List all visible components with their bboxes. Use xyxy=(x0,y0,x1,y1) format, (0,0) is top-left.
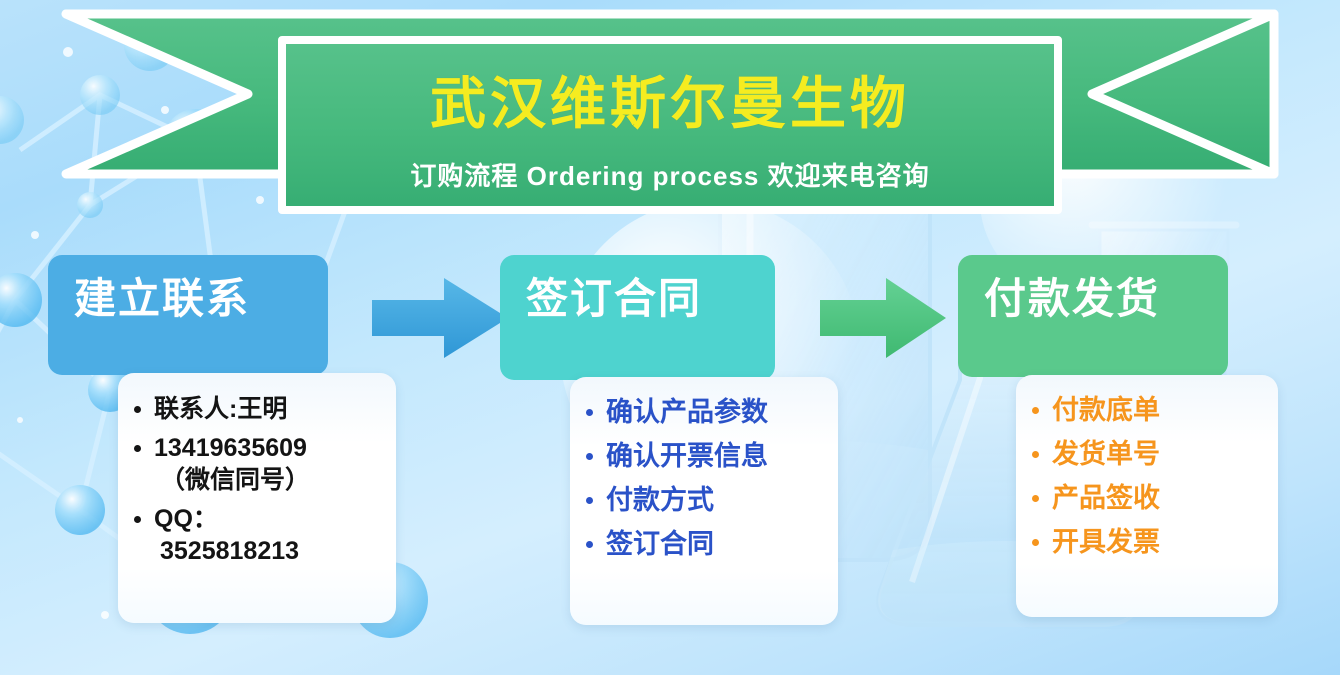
payment-item-1: 付款底单 xyxy=(1052,395,1160,425)
contact-qq-value: 3525818213 xyxy=(154,535,386,568)
step-payment-body: 付款底单 发货单号 产品签收 开具发票 xyxy=(1016,375,1278,617)
step-contact-title: 建立联系 xyxy=(74,277,250,321)
contact-person: 联系人:王明 xyxy=(154,395,287,423)
banner-subtitle: 订购流程 Ordering process 欢迎来电咨询 xyxy=(0,132,1340,193)
step-card-contract[interactable]: 签订合同 确认产品参数 确认开票信息 付款方式 签订合同 xyxy=(500,255,860,635)
contract-item-3: 付款方式 xyxy=(606,485,714,515)
payment-item-3: 产品签收 xyxy=(1052,483,1160,513)
payment-item-2: 发货单号 xyxy=(1052,439,1160,469)
step-contract-list: 确认产品参数 确认开票信息 付款方式 签订合同 xyxy=(578,395,830,562)
list-item: QQ： 3525818213 xyxy=(126,503,386,568)
step-contact-header: 建立联系 xyxy=(48,255,328,375)
list-item: 发货单号 xyxy=(1024,437,1270,472)
poster-root: 武汉维斯尔曼生物 订购流程 Ordering process 欢迎来电咨询 建立… xyxy=(0,0,1340,675)
step-payment-title: 付款发货 xyxy=(984,277,1160,321)
step-contact-body: 联系人:王明 13419635609 （微信同号） QQ： 3525818213 xyxy=(118,373,396,623)
step-contract-title: 签订合同 xyxy=(526,277,702,321)
step-payment-header: 付款发货 xyxy=(958,255,1228,377)
step-contract-body: 确认产品参数 确认开票信息 付款方式 签订合同 xyxy=(570,377,838,625)
list-item: 联系人:王明 xyxy=(126,393,386,426)
step-contract-header: 签订合同 xyxy=(500,255,775,380)
step-payment-list: 付款底单 发货单号 产品签收 开具发票 xyxy=(1024,393,1270,560)
header-ribbon: 武汉维斯尔曼生物 订购流程 Ordering process 欢迎来电咨询 xyxy=(0,4,1340,219)
payment-item-4: 开具发票 xyxy=(1052,527,1160,557)
list-item: 付款底单 xyxy=(1024,393,1270,428)
step-card-contact[interactable]: 建立联系 联系人:王明 13419635609 （微信同号） QQ： 35258… xyxy=(48,255,448,635)
contact-phone-note: （微信同号） xyxy=(154,464,386,497)
list-item: 产品签收 xyxy=(1024,481,1270,516)
list-item: 签订合同 xyxy=(578,527,830,562)
banner-title: 武汉维斯尔曼生物 xyxy=(0,4,1340,132)
contract-item-4: 签订合同 xyxy=(606,529,714,559)
list-item: 确认产品参数 xyxy=(578,395,830,430)
list-item: 确认开票信息 xyxy=(578,439,830,474)
contract-item-2: 确认开票信息 xyxy=(606,441,768,471)
list-item: 开具发票 xyxy=(1024,525,1270,560)
list-item: 付款方式 xyxy=(578,483,830,518)
contract-item-1: 确认产品参数 xyxy=(606,397,768,427)
step-card-payment[interactable]: 付款发货 付款底单 发货单号 产品签收 开具发票 xyxy=(958,255,1298,635)
list-item: 13419635609 （微信同号） xyxy=(126,432,386,497)
contact-phone: 13419635609 xyxy=(154,434,307,462)
step-contact-list: 联系人:王明 13419635609 （微信同号） QQ： 3525818213 xyxy=(126,393,386,568)
contact-qq-label: QQ： xyxy=(154,505,218,533)
